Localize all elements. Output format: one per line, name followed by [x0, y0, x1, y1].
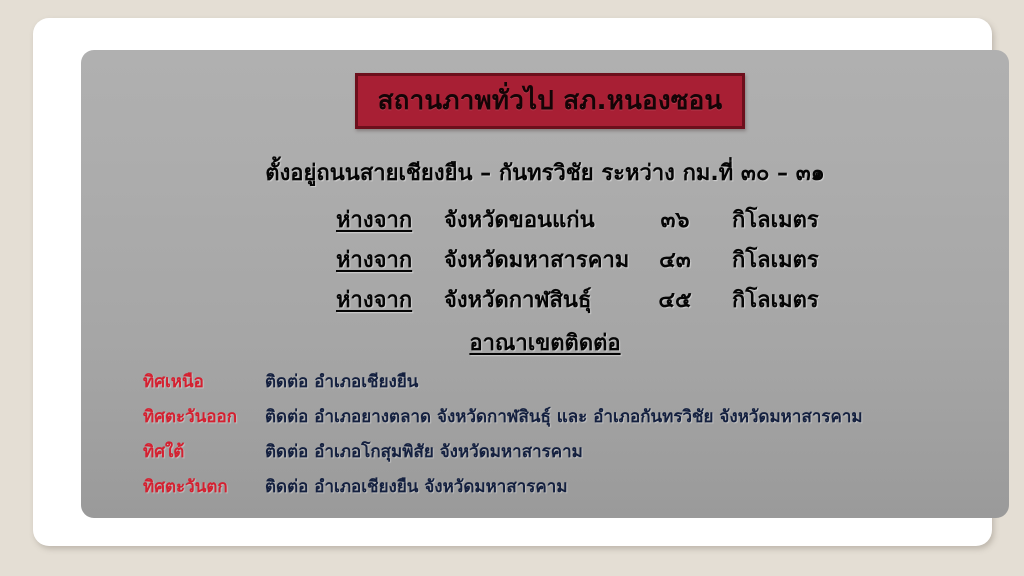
distance-unit: กิโลเมตร	[706, 202, 819, 237]
direction-row: ทิศตะวันออก ติดต่อ อำเภอยางตลาด จังหวัดก…	[143, 403, 863, 433]
direction-name: ทิศตะวันตก	[143, 473, 265, 500]
content-panel: สถานภาพทั่วไป สภ.หนองซอน ตั้งอยู่ถนนสายเ…	[81, 50, 1009, 518]
distance-row: ห่างจาก จังหวัดขอนแก่น ๓๖ กิโลเมตร	[336, 202, 856, 236]
title-banner: สถานภาพทั่วไป สภ.หนองซอน	[355, 73, 745, 129]
direction-detail: ติดต่อ อำเภอเชียงยืน	[265, 368, 418, 395]
section-heading-text: อาณาเขตติดต่อ	[469, 331, 620, 356]
distance-label: ห่างจาก	[336, 202, 432, 237]
page-title: สถานภาพทั่วไป สภ.หนองซอน	[378, 88, 723, 114]
direction-row: ทิศใต้ ติดต่อ อำเภอโกสุมพิสัย จังหวัดมหา…	[143, 438, 583, 468]
direction-detail: ติดต่อ อำเภอโกสุมพิสัย จังหวัดมหาสารคาม	[265, 438, 583, 465]
direction-detail: ติดต่อ อำเภอเชียงยืน จังหวัดมหาสารคาม	[265, 473, 568, 500]
direction-name: ทิศใต้	[143, 438, 265, 465]
direction-row: ทิศตะวันตก ติดต่อ อำเภอเชียงยืน จังหวัดม…	[143, 473, 568, 503]
section-heading: อาณาเขตติดต่อ	[81, 325, 1009, 360]
distance-place: จังหวัดมหาสารคาม	[432, 242, 644, 277]
location-lead-line: ตั้งอยู่ถนนสายเชียงยืน – กันทรวิชัย ระหว…	[81, 155, 1009, 190]
distance-label: ห่างจาก	[336, 282, 432, 317]
distance-value: ๔๓	[644, 242, 706, 277]
distance-place: จังหวัดกาฬสินธุ์	[432, 282, 644, 317]
direction-row: ทิศเหนือ ติดต่อ อำเภอเชียงยืน	[143, 368, 418, 398]
distance-unit: กิโลเมตร	[706, 282, 819, 317]
slide-root: สถานภาพทั่วไป สภ.หนองซอน ตั้งอยู่ถนนสายเ…	[0, 0, 1024, 576]
direction-name: ทิศเหนือ	[143, 368, 265, 395]
slide-card: สถานภาพทั่วไป สภ.หนองซอน ตั้งอยู่ถนนสายเ…	[33, 18, 992, 546]
distance-unit: กิโลเมตร	[706, 242, 819, 277]
distance-place: จังหวัดขอนแก่น	[432, 202, 644, 237]
distance-row: ห่างจาก จังหวัดมหาสารคาม ๔๓ กิโลเมตร	[336, 242, 856, 276]
distance-row: ห่างจาก จังหวัดกาฬสินธุ์ ๔๕ กิโลเมตร	[336, 282, 856, 316]
distance-value: ๔๕	[644, 282, 706, 317]
direction-name: ทิศตะวันออก	[143, 403, 265, 430]
distance-value: ๓๖	[644, 202, 706, 237]
distance-label: ห่างจาก	[336, 242, 432, 277]
direction-detail: ติดต่อ อำเภอยางตลาด จังหวัดกาฬสินธุ์ และ…	[265, 403, 863, 430]
